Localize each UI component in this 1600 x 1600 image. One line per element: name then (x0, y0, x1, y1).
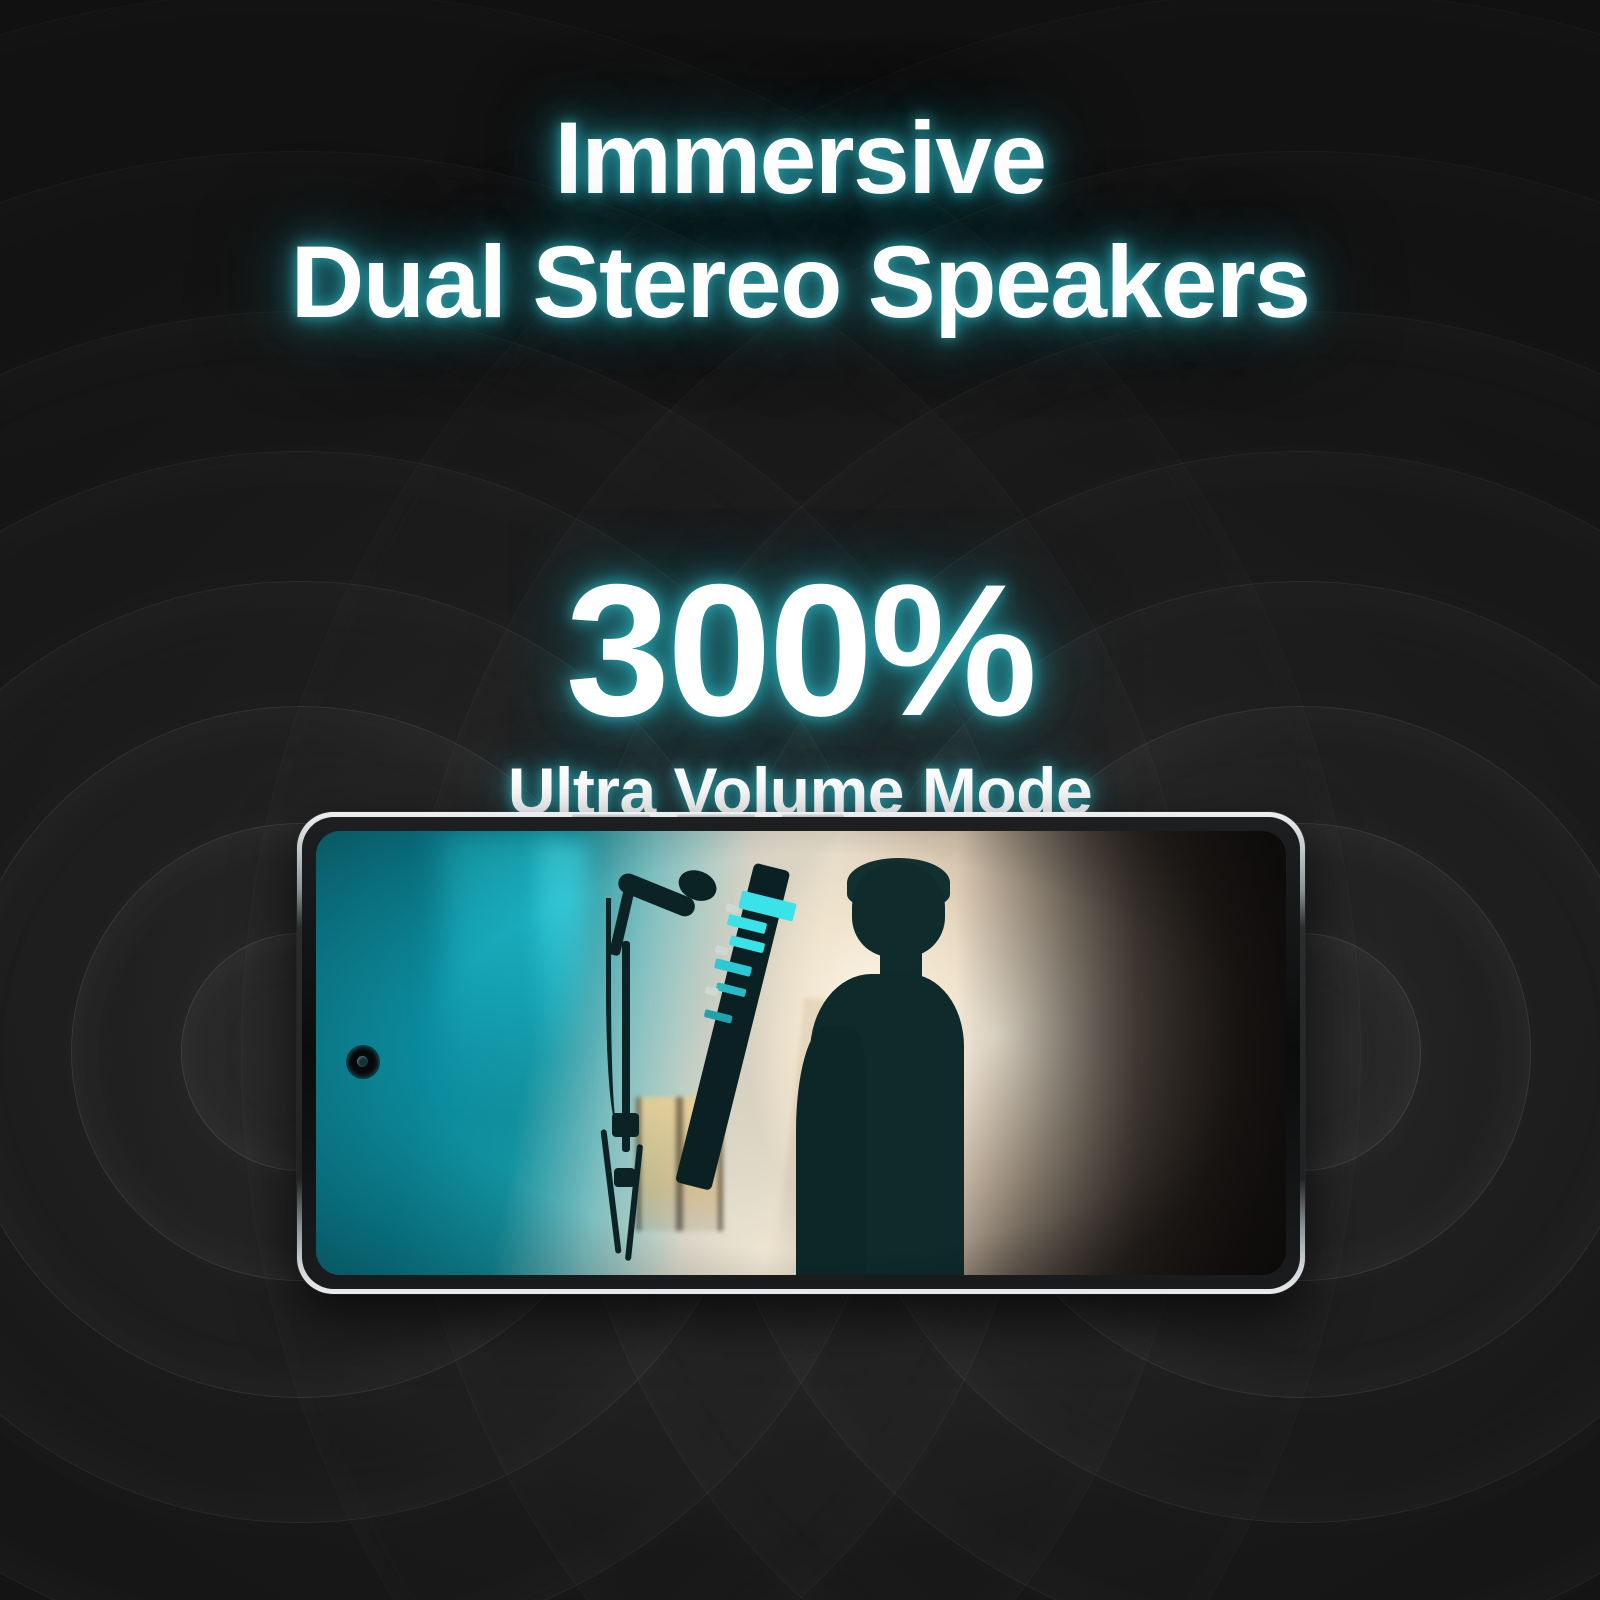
headline-line-2: Dual Stereo Speakers (0, 220, 1600, 344)
phone-screen[interactable] (316, 831, 1286, 1275)
stat-value: 300% (0, 556, 1600, 744)
stat-block: 300% Ultra Volume Mode (0, 556, 1600, 824)
smartphone-device (297, 812, 1305, 1294)
punch-hole-camera-icon (348, 1047, 378, 1077)
phone-bezel (302, 817, 1300, 1289)
headline-line-1: Immersive (554, 101, 1045, 215)
camera-lens (357, 1056, 368, 1067)
headline: Immersive Dual Stereo Speakers (0, 96, 1600, 345)
promo-canvas: Immersive Dual Stereo Speakers 300% Ultr… (0, 0, 1600, 1600)
screen-vignette (316, 831, 1286, 1275)
